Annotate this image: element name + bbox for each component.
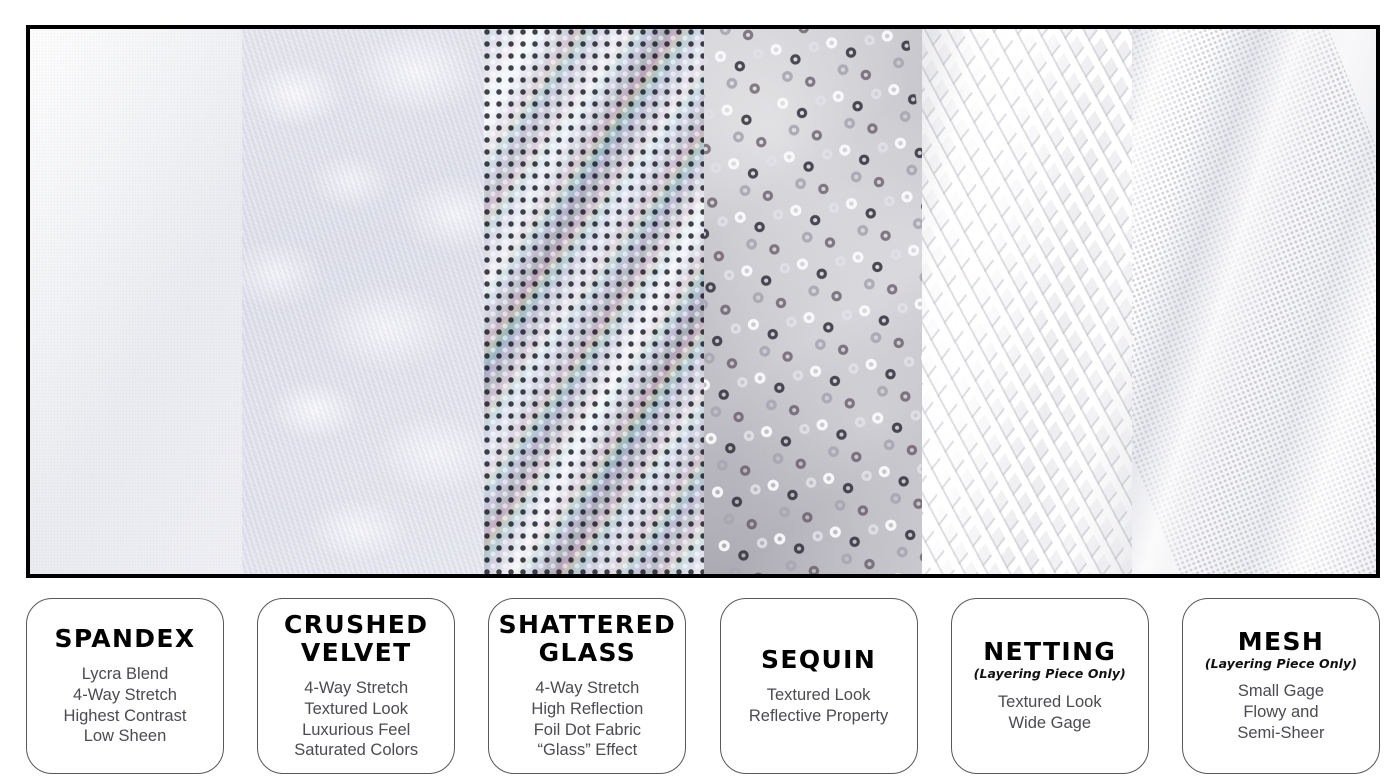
card-title: SHATTERED GLASS	[497, 611, 677, 667]
card-specs: Textured Look Wide Gage	[998, 692, 1102, 734]
spec-line: 4-Way Stretch	[294, 678, 418, 699]
swatch-mesh	[1132, 29, 1376, 574]
spec-line: Wide Gage	[998, 713, 1102, 734]
spec-line: Textured Look	[294, 699, 418, 720]
card-specs: Small Gage Flowy and Semi-Sheer	[1237, 681, 1324, 744]
spec-line: Textured Look	[998, 692, 1102, 713]
fabric-card-sequin[interactable]: SEQUIN Textured Look Reflective Property	[720, 598, 918, 774]
spec-line: High Reflection	[531, 699, 643, 720]
fabric-card-mesh[interactable]: MESH (Layering Piece Only) Small Gage Fl…	[1182, 598, 1380, 774]
card-specs: Lycra Blend 4-Way Stretch Highest Contra…	[64, 664, 187, 748]
card-title: SEQUIN	[761, 646, 876, 674]
spec-line: Flowy and	[1237, 702, 1324, 723]
card-title: MESH	[1238, 628, 1324, 656]
spec-line: “Glass” Effect	[531, 740, 643, 761]
fabric-card-spandex[interactable]: SPANDEX Lycra Blend 4-Way Stretch Highes…	[26, 598, 224, 774]
spec-line: Luxurious Feel	[294, 720, 418, 741]
swatch-netting	[922, 29, 1132, 574]
spec-line: Highest Contrast	[64, 706, 187, 727]
spec-line: Reflective Property	[749, 706, 888, 727]
swatch-shattered-glass	[484, 29, 704, 574]
spec-line: Foil Dot Fabric	[531, 720, 643, 741]
card-subtitle: (Layering Piece Only)	[974, 667, 1126, 681]
spec-line: Saturated Colors	[294, 740, 418, 761]
swatch-spandex	[30, 29, 242, 574]
fabric-swatch-strip	[26, 25, 1380, 578]
card-subtitle: (Layering Piece Only)	[1205, 657, 1357, 671]
card-title: CRUSHED VELVET	[266, 611, 446, 667]
spec-line: Semi-Sheer	[1237, 723, 1324, 744]
card-specs: Textured Look Reflective Property	[749, 685, 888, 727]
spec-line: 4-Way Stretch	[531, 678, 643, 699]
card-title: NETTING	[983, 638, 1116, 666]
fabric-card-crushed-velvet[interactable]: CRUSHED VELVET 4-Way Stretch Textured Lo…	[257, 598, 455, 774]
spec-line: Small Gage	[1237, 681, 1324, 702]
spec-line: Low Sheen	[64, 726, 187, 747]
fabric-card-shattered-glass[interactable]: SHATTERED GLASS 4-Way Stretch High Refle…	[488, 598, 686, 774]
spec-line: Textured Look	[749, 685, 888, 706]
card-specs: 4-Way Stretch Textured Look Luxurious Fe…	[294, 678, 418, 762]
card-specs: 4-Way Stretch High Reflection Foil Dot F…	[531, 678, 643, 762]
card-title: SPANDEX	[54, 625, 195, 653]
swatch-crushed-velvet	[242, 29, 484, 574]
fabric-card-row: SPANDEX Lycra Blend 4-Way Stretch Highes…	[26, 598, 1380, 774]
fabric-card-netting[interactable]: NETTING (Layering Piece Only) Textured L…	[951, 598, 1149, 774]
spec-line: Lycra Blend	[64, 664, 187, 685]
spec-line: 4-Way Stretch	[64, 685, 187, 706]
swatch-sequin	[704, 29, 922, 574]
